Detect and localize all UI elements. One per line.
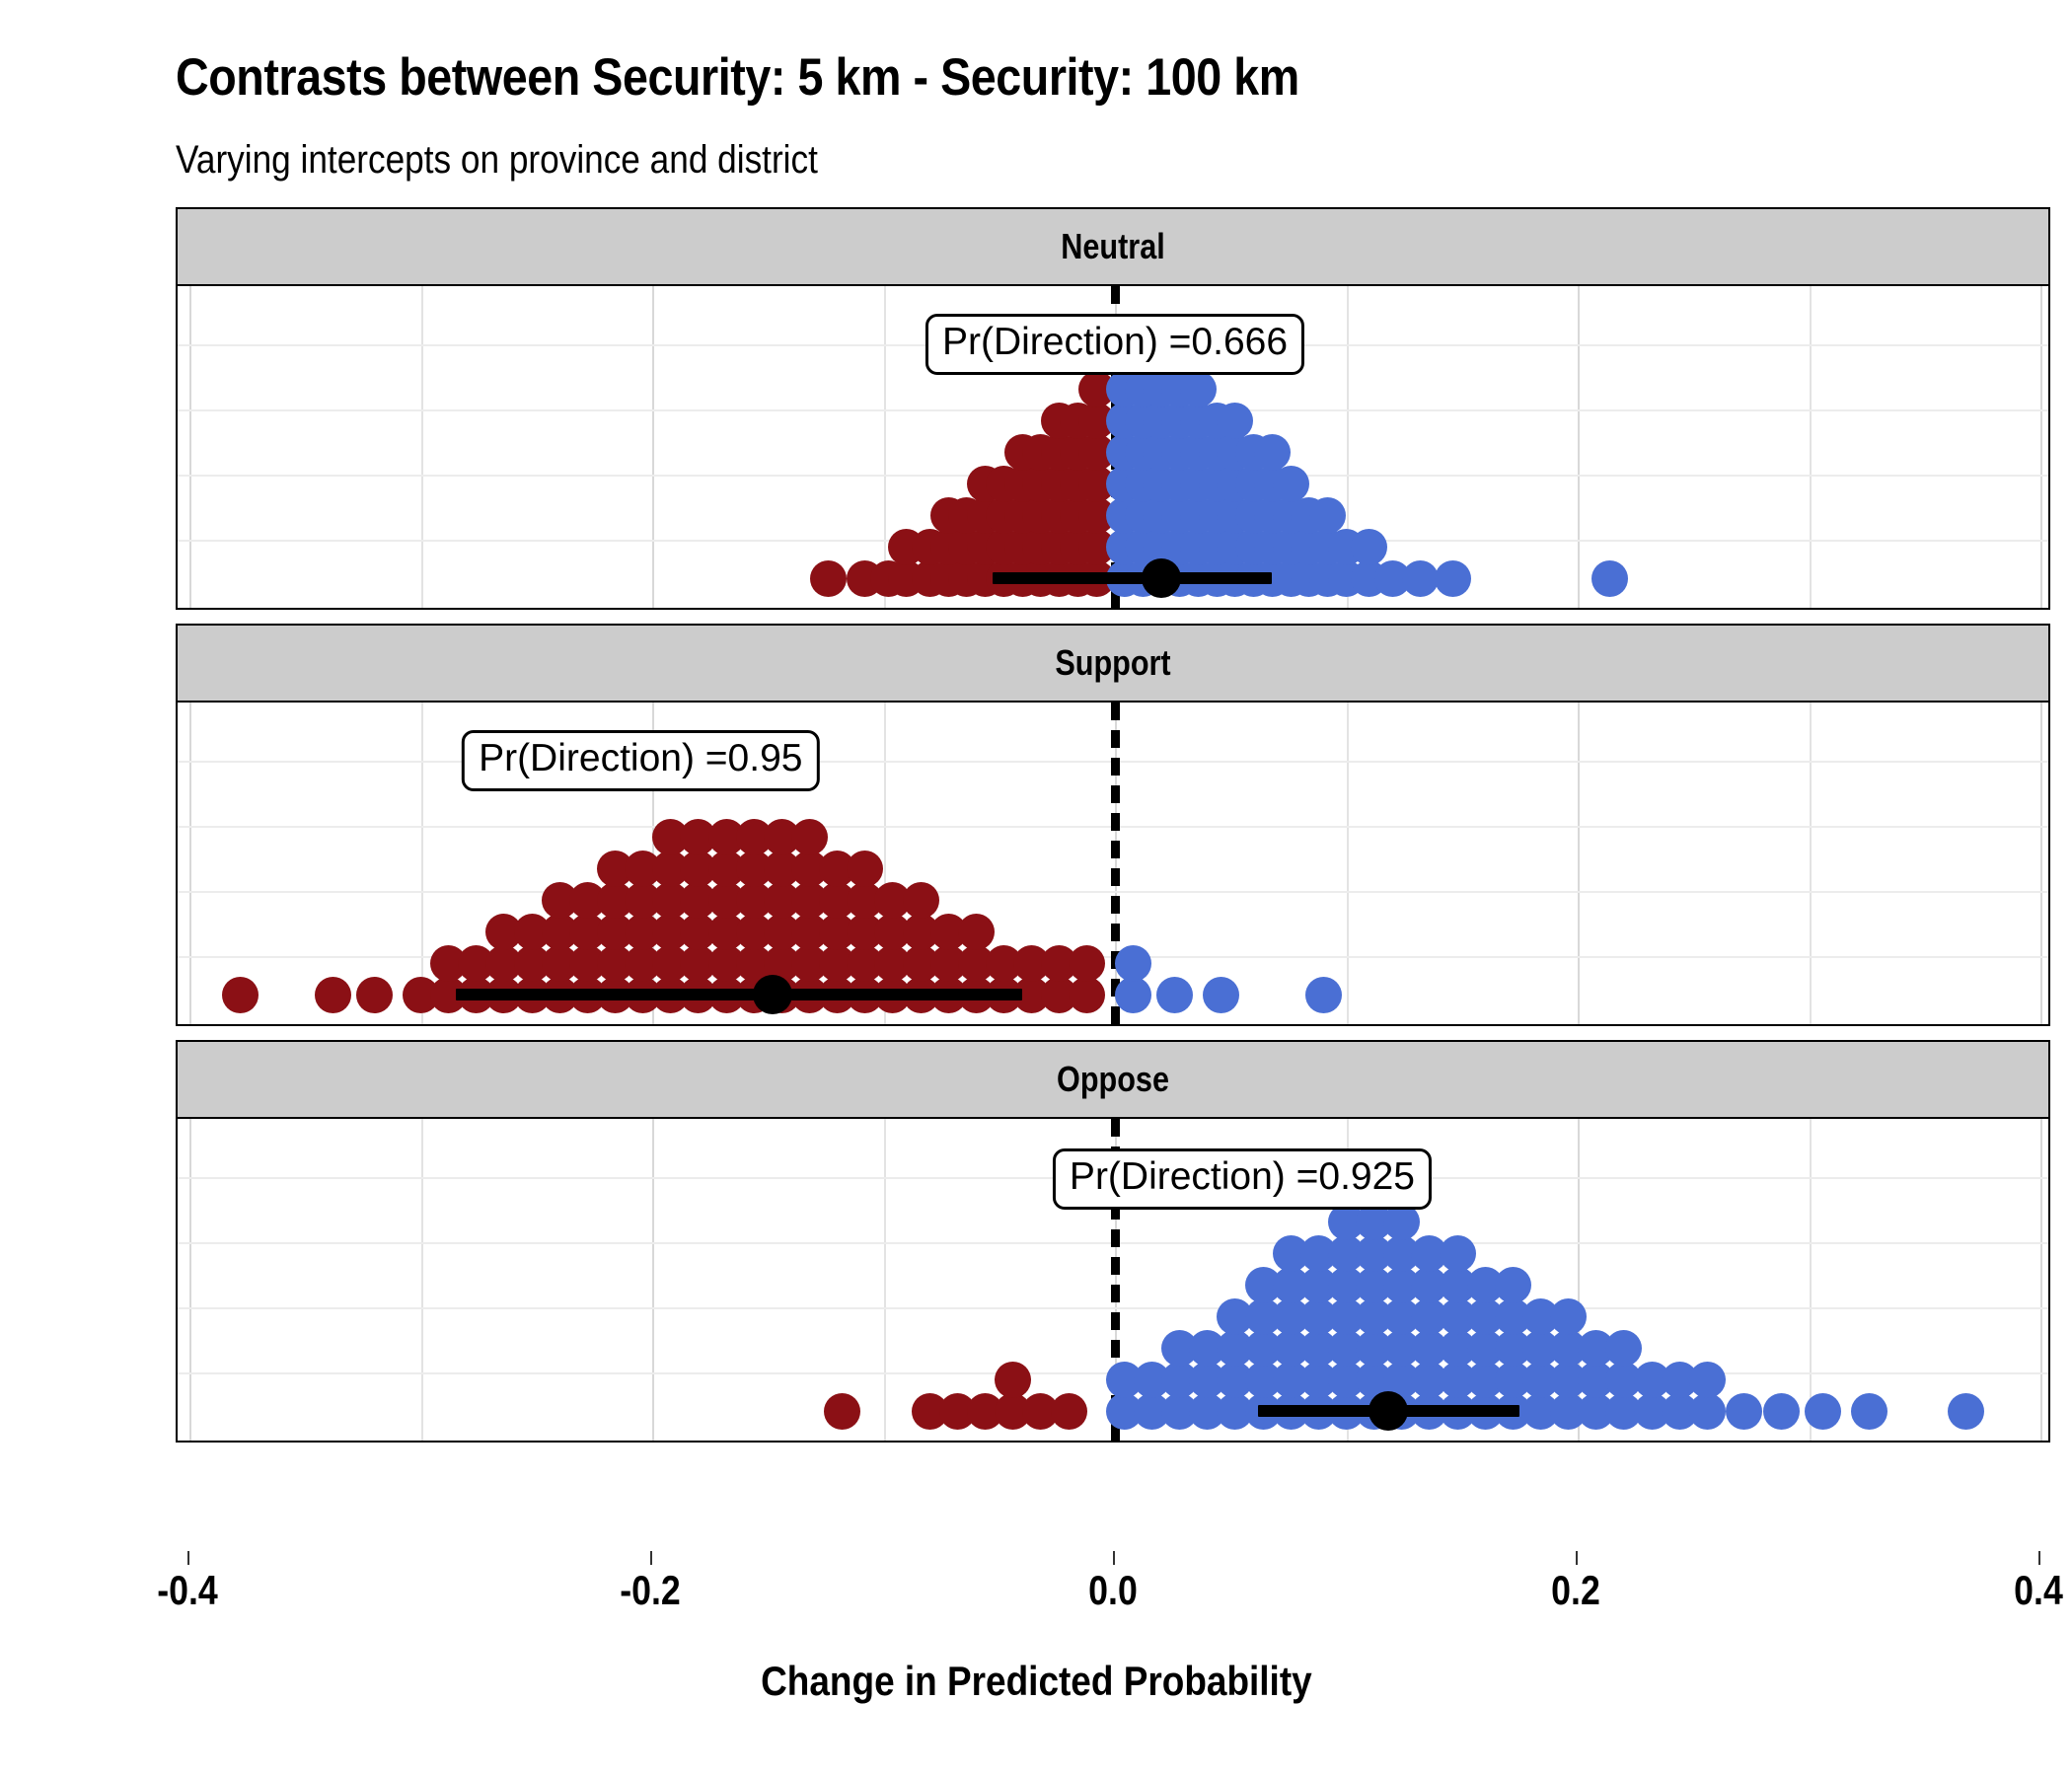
dotplot-dot — [1217, 403, 1253, 439]
dotplot-dot — [1689, 1362, 1726, 1398]
facet-strip-oppose: Oppose — [176, 1040, 2050, 1117]
dotplot-dot — [1115, 977, 1151, 1013]
dotplot-dot — [222, 977, 259, 1013]
gridline-vertical — [421, 1119, 423, 1441]
x-axis-tick-label: -0.2 — [620, 1567, 681, 1614]
x-axis-tick-label: 0.4 — [2014, 1567, 2063, 1614]
facet-strip-label: Support — [1055, 642, 1170, 684]
x-axis-tick — [187, 1551, 189, 1565]
facet-strip-label: Oppose — [1057, 1059, 1169, 1100]
gridline-vertical — [2040, 286, 2042, 608]
credible-interval-bar — [456, 989, 1023, 1000]
gridline-vertical — [652, 1119, 654, 1441]
pr-direction-annotation: Pr(Direction) =0.666 — [925, 314, 1304, 375]
dotplot-dot — [1763, 1393, 1800, 1430]
facet-panels: NeutralPr(Direction) =0.666SupportPr(Dir… — [176, 207, 2050, 1549]
page-title: Contrasts between Security: 5 km - Secur… — [176, 47, 1299, 108]
dotplot-dot — [1203, 977, 1239, 1013]
x-axis-tick-label: 0.0 — [1088, 1567, 1138, 1614]
dotplot-dot — [1069, 945, 1105, 982]
dotplot-dot — [1402, 560, 1439, 597]
point-estimate-marker — [753, 975, 792, 1014]
gridline-vertical — [884, 1119, 886, 1441]
dotplot-dot — [1805, 1393, 1841, 1430]
x-axis-tick — [2038, 1551, 2040, 1565]
dotplot-dot — [1351, 529, 1387, 565]
facet-strip-support: Support — [176, 624, 2050, 701]
point-estimate-marker — [1142, 558, 1181, 598]
dotplot-dot — [1591, 560, 1628, 597]
dotplot-dot — [315, 977, 351, 1013]
facet-oppose: OpposePr(Direction) =0.925 — [176, 1040, 2050, 1443]
zero-reference-line — [1111, 703, 1120, 1024]
dotplot-dot — [1726, 1393, 1762, 1430]
x-axis-tick — [1113, 1551, 1115, 1565]
credible-interval-bar — [993, 572, 1273, 584]
gridline-vertical — [1578, 703, 1580, 1024]
dotplot-dot — [1115, 945, 1151, 982]
x-axis-label: Change in Predicted Probability — [0, 1658, 2072, 1705]
dotplot-dot — [1254, 434, 1291, 471]
gridline-vertical — [189, 286, 191, 608]
gridline-vertical — [2040, 1119, 2042, 1441]
dotplot-dot — [1180, 371, 1217, 407]
x-axis-tick — [1576, 1551, 1578, 1565]
dotplot-dot — [824, 1393, 860, 1430]
facet-strip-neutral: Neutral — [176, 207, 2050, 284]
facet-neutral: NeutralPr(Direction) =0.666 — [176, 207, 2050, 610]
gridline-vertical — [1810, 703, 1812, 1024]
dotplot-dot — [1605, 1330, 1642, 1367]
point-estimate-marker — [1369, 1391, 1408, 1431]
gridline-vertical — [884, 286, 886, 608]
dotplot-dot — [1051, 1393, 1087, 1430]
gridline-vertical — [2040, 703, 2042, 1024]
dotplot-dot — [1069, 977, 1105, 1013]
gridline-vertical — [189, 703, 191, 1024]
dotplot-dot — [1156, 977, 1193, 1013]
gridline-vertical — [652, 286, 654, 608]
dotplot-dot — [1435, 560, 1471, 597]
dotplot-dot — [1948, 1393, 1984, 1430]
panel-neutral: Pr(Direction) =0.666 — [176, 284, 2050, 610]
dotplot-dot — [1309, 497, 1346, 534]
dotplot-dot — [791, 819, 828, 855]
dotplot-dot — [1495, 1267, 1531, 1303]
dotplot-dot — [958, 914, 995, 950]
x-axis: -0.4-0.20.00.20.4 — [176, 1551, 2050, 1669]
dotplot-dot — [1689, 1393, 1726, 1430]
pr-direction-annotation: Pr(Direction) =0.925 — [1053, 1148, 1432, 1210]
dotplot-dot — [1440, 1235, 1476, 1272]
dotplot-dot — [847, 851, 883, 887]
facet-support: SupportPr(Direction) =0.95 — [176, 624, 2050, 1026]
facet-strip-label: Neutral — [1061, 226, 1164, 267]
dotplot-dot — [903, 882, 939, 919]
panel-support: Pr(Direction) =0.95 — [176, 701, 2050, 1026]
gridline-vertical — [421, 286, 423, 608]
gridline-vertical — [1810, 1119, 1812, 1441]
gridline-vertical — [1810, 286, 1812, 608]
gridline-vertical — [1347, 703, 1349, 1024]
gridline-vertical — [189, 1119, 191, 1441]
x-axis-tick-label: -0.4 — [157, 1567, 218, 1614]
panel-oppose: Pr(Direction) =0.925 — [176, 1117, 2050, 1443]
dotplot-dot — [1550, 1298, 1587, 1335]
chart-page: Contrasts between Security: 5 km - Secur… — [0, 0, 2072, 1776]
dotplot-dot — [995, 1362, 1031, 1398]
dotplot-dot — [356, 977, 393, 1013]
gridline-vertical — [1578, 286, 1580, 608]
dotplot-dot — [1305, 977, 1342, 1013]
dotplot-dot — [1273, 466, 1309, 502]
page-subtitle: Varying intercepts on province and distr… — [176, 138, 818, 183]
dotplot-dot — [810, 560, 847, 597]
pr-direction-annotation: Pr(Direction) =0.95 — [462, 730, 819, 791]
x-axis-tick-label: 0.2 — [1551, 1567, 1600, 1614]
dotplot-dot — [1851, 1393, 1887, 1430]
x-axis-tick — [650, 1551, 652, 1565]
